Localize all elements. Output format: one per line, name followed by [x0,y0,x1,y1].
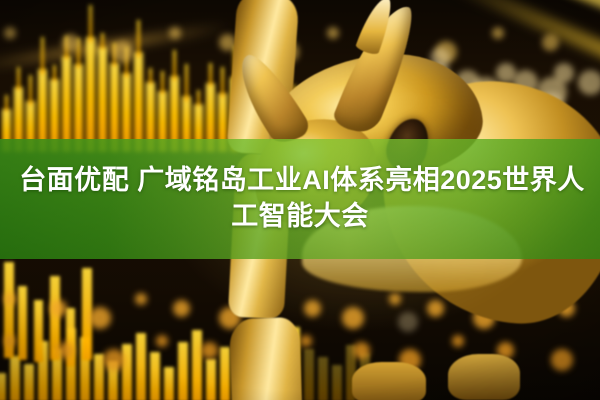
image-canvas: 台面优配 广域铭岛工业AI体系亮相2025世界人 工智能大会 [0,0,600,400]
headline-line-1: 台面优配 广域铭岛工业AI体系亮相2025世界人 [15,163,585,199]
green-title-banner: 台面优配 广域铭岛工业AI体系亮相2025世界人 工智能大会 [0,139,600,259]
headline-line-2: 工智能大会 [231,199,369,235]
